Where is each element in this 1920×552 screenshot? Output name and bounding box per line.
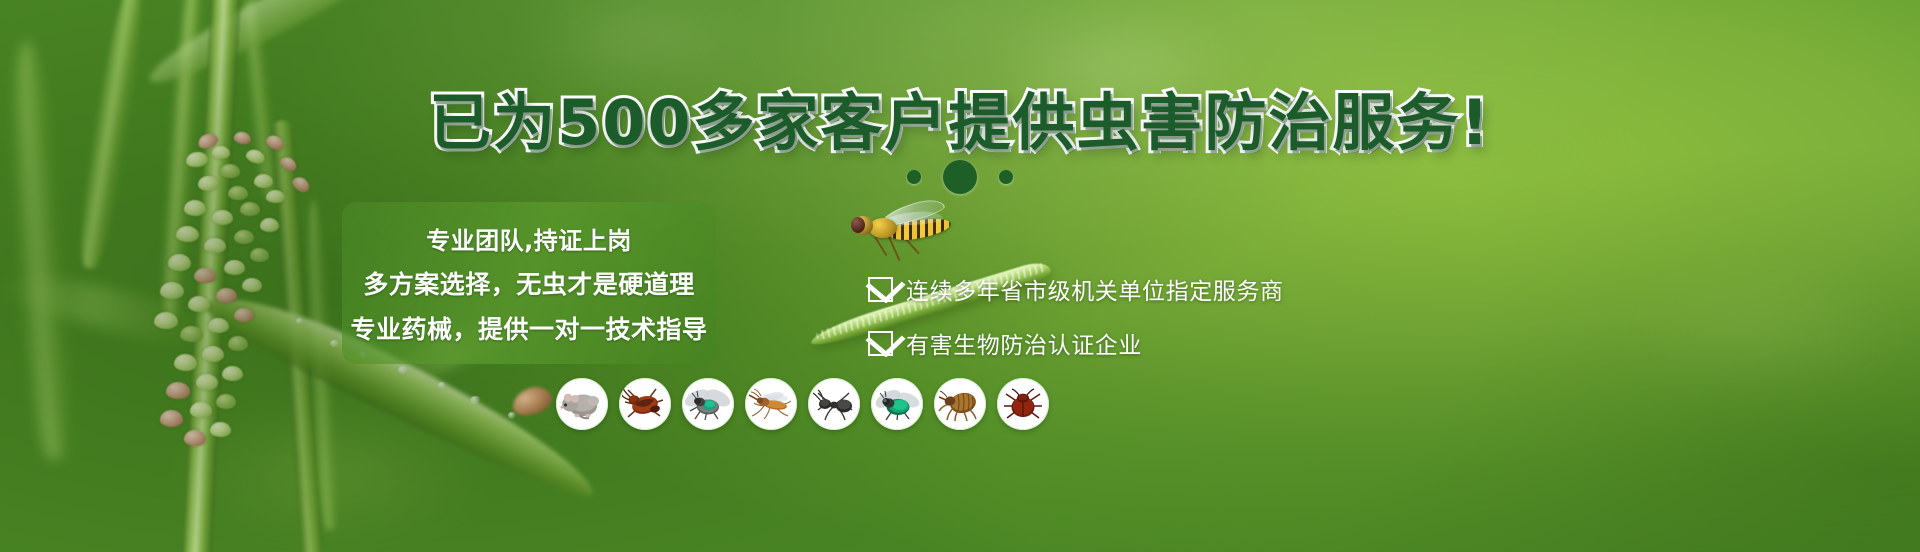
dot-small-left-icon — [907, 170, 921, 184]
housefly-icon — [682, 378, 734, 430]
cockroach-icon — [619, 378, 671, 430]
selling-points-text: 专业团队,持证上岗 多方案选择，无虫才是硬道理 专业药械，提供一对一技术指导 — [342, 202, 716, 364]
flea-icon — [934, 378, 986, 430]
list-item: 连续多年省市级机关单位指定服务商 — [868, 272, 1284, 306]
hoverfly-icon — [845, 198, 965, 256]
greenbottle-fly-icon — [871, 378, 923, 430]
mouse-icon — [556, 378, 608, 430]
dot-large-center-icon — [943, 160, 977, 194]
mosquito-icon — [745, 378, 797, 430]
credential-label-2: 有害生物防治认证企业 — [906, 326, 1142, 360]
bedbug-icon — [997, 378, 1049, 430]
headline-decor-dots — [0, 160, 1920, 194]
credential-label-1: 连续多年省市级机关单位指定服务商 — [906, 272, 1284, 306]
credentials-checklist: 连续多年省市级机关单位指定服务商 有害生物防治认证企业 — [868, 272, 1284, 360]
promo-banner: 已为500多家客户提供虫害防治服务! 专业团队,持证上岗 多方案选择，无虫才是硬… — [0, 0, 1920, 552]
selling-point-line-3: 专业药械，提供一对一技术指导 — [350, 310, 707, 346]
dot-small-right-icon — [999, 170, 1013, 184]
ant-icon — [808, 378, 860, 430]
list-item: 有害生物防治认证企业 — [868, 326, 1284, 360]
selling-point-line-1: 专业团队,持证上岗 — [426, 221, 632, 256]
checkbox-checked-icon — [868, 331, 893, 356]
checkbox-checked-icon — [868, 277, 893, 302]
selling-point-line-2: 多方案选择，无虫才是硬道理 — [363, 265, 695, 301]
pest-icon-row — [556, 378, 1049, 430]
